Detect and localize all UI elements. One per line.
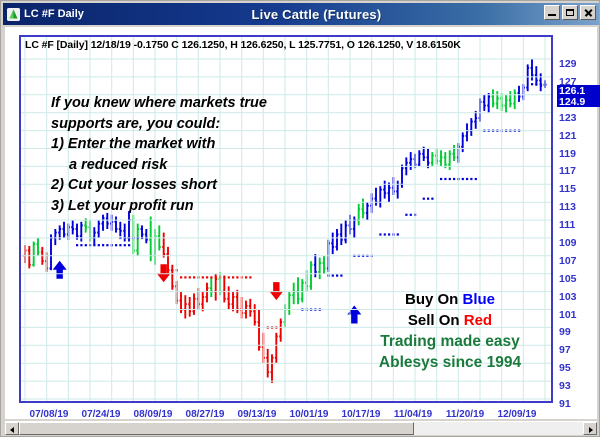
x-axis-tick: 10/01/19 [290,409,329,420]
promo-line-5: 2) Cut your losses short [51,175,267,196]
quote-info-line: LC #F [Daily] 12/18/19 -0.1750 C 126.125… [25,39,461,51]
sell-on-red-line: Sell On Red [355,310,545,331]
tagline-line-3: Trading made easy [355,331,545,352]
horizontal-scrollbar[interactable] [5,421,597,435]
y-axis: 1291271251231211191171151131111091071051… [555,35,600,403]
buy-prefix: Buy On [405,291,463,308]
promo-line-6: 3) Let your profit run [51,196,267,217]
window-title-left: LC #F Daily [24,8,84,20]
x-axis-tick: 10/17/19 [342,409,381,420]
x-axis-tick: 11/04/19 [394,409,432,420]
scrollbar-track[interactable] [19,422,583,435]
x-axis-tick: 12/09/19 [498,409,537,420]
sell-prefix: Sell On [408,312,464,329]
tagline-block: Buy On Blue Sell On Red Trading made eas… [355,289,545,373]
maximize-button[interactable] [562,5,578,20]
scrollbar-thumb[interactable] [19,422,414,435]
price-cursor-bottom: 124.9 [559,96,585,107]
close-button[interactable] [580,5,596,20]
title-bar: LC #F Daily Live Cattle (Futures) [3,3,599,25]
promo-line-3: 1) Enter the market with [51,134,267,155]
window-controls [544,5,596,20]
x-axis-tick: 08/27/19 [186,409,225,420]
promo-line-1: If you knew where markets true [51,93,267,114]
price-cursor-badge: 126.1 124.9 [557,85,600,107]
x-axis-tick: 09/13/19 [238,409,277,420]
x-axis-tick: 07/08/19 [30,409,69,420]
x-axis-tick: 07/24/19 [82,409,121,420]
minimize-button[interactable] [544,5,560,20]
x-axis-tick: 11/20/19 [446,409,484,420]
x-axis-tick: 08/09/19 [134,409,173,420]
leaf-icon [7,8,20,21]
promo-line-2: supports are, you could: [51,114,267,135]
sell-color-word: Red [464,312,492,329]
chart-panel: LC #F [Daily] 12/18/19 -0.1750 C 126.125… [5,27,597,419]
scroll-right-arrow-icon[interactable] [583,422,597,435]
buy-color-word: Blue [463,291,496,308]
buy-on-blue-line: Buy On Blue [355,289,545,310]
chart-window: LC #F Daily Live Cattle (Futures) LC #F … [0,0,600,437]
tagline-line-4: Ablesys since 1994 [355,352,545,373]
promo-text-block: If you knew where markets true supports … [51,93,267,216]
window-title-center: Live Cattle (Futures) [84,7,599,22]
promo-line-4: a reduced risk [51,155,167,176]
scroll-left-arrow-icon[interactable] [5,422,19,435]
